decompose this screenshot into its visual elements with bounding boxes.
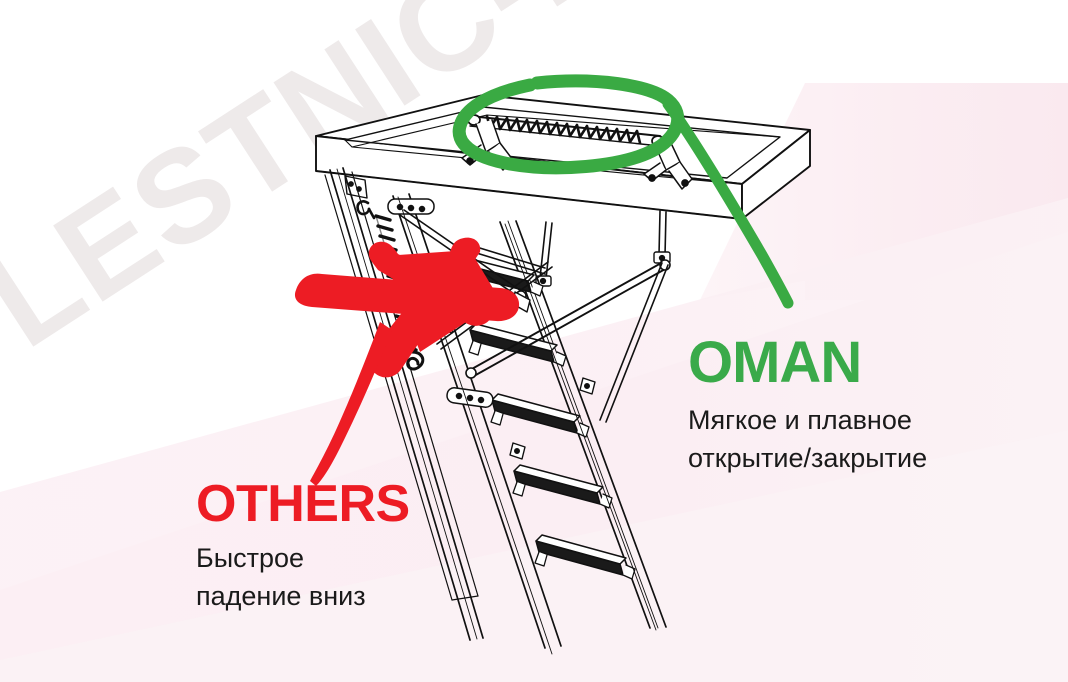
oman-label-block: OMAN Мягкое и плавное открытие/закрытие [688, 334, 927, 478]
illustration-canvas: LESTNIC-PROSTO.RU [0, 0, 1068, 682]
oman-subtitle-line-2: открытие/закрытие [688, 439, 927, 477]
others-label-block: OTHERS Быстрое падение вниз [196, 478, 410, 616]
others-subtitle-line-2: падение вниз [196, 577, 410, 615]
oman-subtitle-line-1: Мягкое и плавное [688, 401, 927, 439]
oman-title: OMAN [688, 334, 927, 392]
others-subtitle: Быстрое падение вниз [196, 539, 410, 616]
others-title: OTHERS [196, 478, 410, 530]
others-subtitle-line-1: Быстрое [196, 539, 410, 577]
oman-subtitle: Мягкое и плавное открытие/закрытие [688, 401, 927, 478]
